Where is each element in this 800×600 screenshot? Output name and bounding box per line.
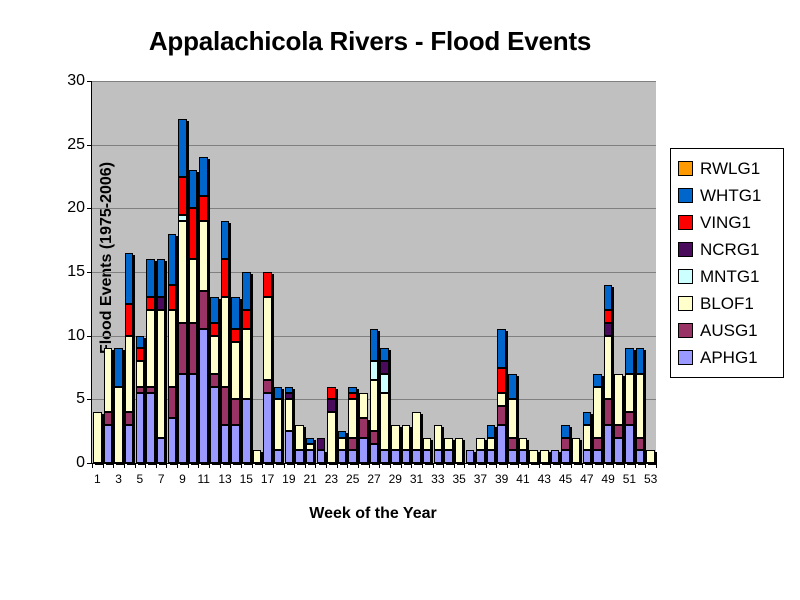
legend-item[interactable]: MNTG1 bbox=[678, 263, 778, 290]
x-axis-tick-mark bbox=[92, 463, 93, 468]
x-axis-tick-label: 15 bbox=[240, 472, 253, 486]
bar-segment-aphg1[interactable] bbox=[338, 450, 347, 463]
bar-segment-aphg1[interactable] bbox=[274, 450, 283, 463]
bar-segment-aphg1[interactable] bbox=[263, 393, 272, 463]
bar-segment-ausg1[interactable] bbox=[561, 438, 570, 451]
x-axis-tick-label: 3 bbox=[115, 472, 122, 486]
x-axis-tick-mark bbox=[475, 463, 476, 468]
bar-segment-whtg1[interactable] bbox=[348, 387, 357, 393]
bar-segment-aphg1[interactable] bbox=[231, 425, 240, 463]
plot-area: Flood Events (1975-2006) 051015202530135… bbox=[91, 81, 656, 464]
bar-segment-blof1[interactable] bbox=[168, 310, 177, 386]
bar-segment-aphg1[interactable] bbox=[604, 425, 613, 463]
x-axis-tick-mark bbox=[326, 463, 327, 468]
x-axis-tick-label: 27 bbox=[367, 472, 380, 486]
bar-segment-blof1[interactable] bbox=[402, 425, 411, 450]
x-axis-tick-label: 25 bbox=[346, 472, 359, 486]
bar-segment-blof1[interactable] bbox=[434, 425, 443, 450]
bar-column[interactable] bbox=[625, 348, 634, 463]
bar-column[interactable] bbox=[519, 438, 528, 463]
bar-segment-aphg1[interactable] bbox=[306, 450, 315, 463]
bar-segment-ncrg1[interactable] bbox=[380, 361, 389, 374]
x-axis-tick-mark bbox=[220, 463, 221, 468]
bar-segment-blof1[interactable] bbox=[146, 310, 155, 386]
bar-segment-whtg1[interactable] bbox=[168, 234, 177, 285]
bar-segment-whtg1[interactable] bbox=[274, 387, 283, 400]
x-axis-tick-label: 51 bbox=[623, 472, 636, 486]
bar-segment-aphg1[interactable] bbox=[125, 425, 134, 463]
x-axis-tick-label: 17 bbox=[261, 472, 274, 486]
bar-segment-whtg1[interactable] bbox=[146, 259, 155, 297]
bar-segment-ving1[interactable] bbox=[178, 177, 187, 215]
y-axis-tick-label: 30 bbox=[67, 72, 85, 90]
bar-column[interactable] bbox=[423, 438, 432, 463]
bar-column[interactable] bbox=[274, 387, 283, 463]
bar-segment-whtg1[interactable] bbox=[380, 348, 389, 361]
bar-segment-whtg1[interactable] bbox=[561, 425, 570, 438]
x-axis-tick-label: 31 bbox=[410, 472, 423, 486]
legend-item[interactable]: WHTG1 bbox=[678, 182, 778, 209]
bar-segment-aphg1[interactable] bbox=[221, 425, 230, 463]
bar-segment-blof1[interactable] bbox=[497, 393, 506, 406]
legend-item[interactable]: NCRG1 bbox=[678, 236, 778, 263]
bar-column[interactable] bbox=[412, 412, 421, 463]
bar-column[interactable] bbox=[444, 438, 453, 463]
x-axis-tick-mark bbox=[528, 463, 529, 468]
bar-segment-whtg1[interactable] bbox=[178, 119, 187, 176]
bar-segment-ausg1[interactable] bbox=[221, 387, 230, 425]
x-axis-tick-mark bbox=[422, 463, 423, 468]
bar-column[interactable] bbox=[317, 450, 326, 463]
bar-segment-whtg1[interactable] bbox=[199, 157, 208, 195]
legend-label: MNTG1 bbox=[700, 268, 760, 285]
bar-segment-ausg1[interactable] bbox=[370, 431, 379, 444]
bar-segment-whtg1[interactable] bbox=[338, 431, 347, 437]
bar-segment-blof1[interactable] bbox=[476, 438, 485, 451]
x-axis-tick-mark bbox=[284, 463, 285, 468]
x-axis-tick-label: 37 bbox=[474, 472, 487, 486]
bar-segment-blof1[interactable] bbox=[242, 329, 251, 399]
bar-segment-ving1[interactable] bbox=[231, 329, 240, 342]
bar-segment-ving1[interactable] bbox=[199, 196, 208, 221]
bar-segment-aphg1[interactable] bbox=[285, 431, 294, 463]
bar-column[interactable] bbox=[306, 438, 315, 463]
bar-segment-whtg1[interactable] bbox=[497, 329, 506, 367]
bar-segment-aphg1[interactable] bbox=[380, 450, 389, 463]
bar-column[interactable] bbox=[136, 336, 145, 463]
x-axis-tick-mark bbox=[582, 463, 583, 468]
bar-segment-whtg1[interactable] bbox=[625, 348, 634, 373]
x-axis-tick-mark bbox=[539, 463, 540, 468]
x-axis-tick-mark bbox=[113, 463, 114, 468]
legend-label: RWLG1 bbox=[700, 160, 760, 177]
bar-segment-whtg1[interactable] bbox=[583, 412, 592, 425]
bar-column[interactable] bbox=[253, 450, 262, 463]
bar-segment-aphg1[interactable] bbox=[189, 374, 198, 463]
bar-column[interactable] bbox=[210, 297, 219, 463]
bar-segment-whtg1[interactable] bbox=[221, 221, 230, 259]
bar-column[interactable] bbox=[146, 259, 155, 463]
x-axis-tick-label: 5 bbox=[137, 472, 144, 486]
legend-label: AUSG1 bbox=[700, 322, 758, 339]
bar-segment-mntg1[interactable] bbox=[178, 215, 187, 221]
bar-segment-blof1[interactable] bbox=[157, 310, 166, 437]
bar-segment-ausg1[interactable] bbox=[359, 418, 368, 437]
x-axis-tick-mark bbox=[188, 463, 189, 468]
bar-column[interactable] bbox=[455, 438, 464, 463]
bar-segment-blof1[interactable] bbox=[104, 348, 113, 412]
bar-segment-whtg1[interactable] bbox=[593, 374, 602, 387]
legend-item[interactable]: BLOF1 bbox=[678, 290, 778, 317]
bar-segment-aphg1[interactable] bbox=[434, 450, 443, 463]
x-axis-tick-mark bbox=[369, 463, 370, 468]
bar-segment-aphg1[interactable] bbox=[295, 450, 304, 463]
y-axis-tick-label: 10 bbox=[67, 327, 85, 345]
bar-segment-blof1[interactable] bbox=[380, 393, 389, 450]
bar-segment-blof1[interactable] bbox=[231, 342, 240, 399]
bar-segment-aphg1[interactable] bbox=[593, 450, 602, 463]
bar-column[interactable] bbox=[221, 221, 230, 463]
bar-segment-ausg1[interactable] bbox=[625, 412, 634, 425]
bar-column[interactable] bbox=[178, 119, 187, 463]
gridline bbox=[92, 81, 656, 82]
bar-segment-aphg1[interactable] bbox=[487, 450, 496, 463]
bar-segment-blof1[interactable] bbox=[348, 399, 357, 437]
bar-segment-blof1[interactable] bbox=[274, 399, 283, 450]
bar-segment-whtg1[interactable] bbox=[636, 348, 645, 373]
bar-segment-whtg1[interactable] bbox=[114, 348, 123, 386]
bar-segment-whtg1[interactable] bbox=[508, 374, 517, 399]
y-axis-tick-label: 15 bbox=[67, 263, 85, 281]
bar-segment-whtg1[interactable] bbox=[487, 425, 496, 438]
gridline bbox=[92, 145, 656, 146]
bar-segment-ncrg1[interactable] bbox=[327, 399, 336, 412]
x-axis-tick-mark bbox=[230, 463, 231, 468]
bar-segment-blof1[interactable] bbox=[593, 387, 602, 438]
bar-segment-aphg1[interactable] bbox=[466, 450, 475, 463]
legend-label: APHG1 bbox=[700, 349, 758, 366]
bar-segment-aphg1[interactable] bbox=[583, 450, 592, 463]
bar-segment-ving1[interactable] bbox=[221, 259, 230, 297]
bar-segment-blof1[interactable] bbox=[487, 438, 496, 451]
bar-segment-ausg1[interactable] bbox=[178, 323, 187, 374]
bar-segment-whtg1[interactable] bbox=[306, 438, 315, 444]
bar-segment-ving1[interactable] bbox=[136, 348, 145, 361]
bar-segment-ving1[interactable] bbox=[168, 285, 177, 310]
x-axis-tick-mark bbox=[464, 463, 465, 468]
bar-column[interactable] bbox=[551, 450, 560, 463]
bar-segment-aphg1[interactable] bbox=[359, 438, 368, 463]
bar-segment-aphg1[interactable] bbox=[370, 444, 379, 463]
bar-segment-blof1[interactable] bbox=[199, 221, 208, 291]
y-axis-tick-label: 5 bbox=[76, 390, 85, 408]
bar-segment-blof1[interactable] bbox=[221, 297, 230, 386]
bar-segment-ausg1[interactable] bbox=[614, 425, 623, 438]
bar-segment-whtg1[interactable] bbox=[125, 253, 134, 304]
x-axis-tick-mark bbox=[443, 463, 444, 468]
bar-segment-blof1[interactable] bbox=[253, 450, 262, 463]
bar-column[interactable] bbox=[327, 387, 336, 463]
bar-segment-aphg1[interactable] bbox=[444, 450, 453, 463]
bar-column[interactable] bbox=[104, 348, 113, 463]
bar-segment-aphg1[interactable] bbox=[497, 425, 506, 463]
x-axis-tick-label: 45 bbox=[559, 472, 572, 486]
bar-segment-blof1[interactable] bbox=[114, 387, 123, 463]
bar-segment-aphg1[interactable] bbox=[636, 450, 645, 463]
bar-segment-ving1[interactable] bbox=[327, 387, 336, 400]
bar-segment-ving1[interactable] bbox=[263, 272, 272, 297]
bar-segment-blof1[interactable] bbox=[263, 297, 272, 380]
bar-segment-ausg1[interactable] bbox=[210, 374, 219, 387]
bar-segment-whtg1[interactable] bbox=[604, 285, 613, 310]
bar-segment-mntg1[interactable] bbox=[380, 374, 389, 393]
bar-segment-aphg1[interactable] bbox=[104, 425, 113, 463]
x-axis-tick-mark bbox=[124, 463, 125, 468]
bar-segment-aphg1[interactable] bbox=[136, 393, 145, 463]
bar-segment-blof1[interactable] bbox=[455, 438, 464, 463]
bar-segment-ving1[interactable] bbox=[604, 310, 613, 323]
x-axis-tick-mark bbox=[294, 463, 295, 468]
bar-segment-whtg1[interactable] bbox=[370, 329, 379, 361]
bar-segment-ving1[interactable] bbox=[242, 310, 251, 329]
bar-column[interactable] bbox=[476, 438, 485, 463]
y-axis-tick-label: 20 bbox=[67, 199, 85, 217]
bar-segment-blof1[interactable] bbox=[540, 450, 549, 463]
bar-column[interactable] bbox=[487, 425, 496, 463]
bar-segment-aphg1[interactable] bbox=[508, 450, 517, 463]
bar-segment-ving1[interactable] bbox=[348, 393, 357, 399]
bar-column[interactable] bbox=[168, 234, 177, 463]
bar-segment-ausg1[interactable] bbox=[348, 438, 357, 451]
bar-column[interactable] bbox=[295, 425, 304, 463]
bar-column[interactable] bbox=[529, 450, 538, 463]
bar-segment-ncrg1[interactable] bbox=[317, 438, 326, 451]
bar-column[interactable] bbox=[157, 259, 166, 463]
x-axis-tick-mark bbox=[401, 463, 402, 468]
bar-segment-ausg1[interactable] bbox=[189, 323, 198, 374]
y-axis-tick-mark bbox=[87, 336, 92, 337]
x-axis-tick-label: 19 bbox=[282, 472, 295, 486]
bar-column[interactable] bbox=[391, 425, 400, 463]
bar-segment-aphg1[interactable] bbox=[412, 450, 421, 463]
bar-column[interactable] bbox=[561, 425, 570, 463]
bar-segment-mntg1[interactable] bbox=[370, 361, 379, 380]
bar-segment-aphg1[interactable] bbox=[199, 329, 208, 463]
bar-column[interactable] bbox=[434, 425, 443, 463]
bar-column[interactable] bbox=[593, 374, 602, 463]
bar-segment-aphg1[interactable] bbox=[348, 450, 357, 463]
bar-column[interactable] bbox=[199, 157, 208, 463]
bar-column[interactable] bbox=[231, 297, 240, 463]
bar-segment-blof1[interactable] bbox=[178, 221, 187, 323]
bar-segment-aphg1[interactable] bbox=[423, 450, 432, 463]
legend-item[interactable]: RWLG1 bbox=[678, 155, 778, 182]
bar-column[interactable] bbox=[370, 329, 379, 463]
bar-segment-aphg1[interactable] bbox=[519, 450, 528, 463]
bar-column[interactable] bbox=[572, 438, 581, 463]
x-axis-tick-mark bbox=[305, 463, 306, 468]
bar-column[interactable] bbox=[646, 450, 655, 463]
bar-segment-whtg1[interactable] bbox=[242, 272, 251, 310]
bar-column[interactable] bbox=[125, 253, 134, 463]
bar-column[interactable] bbox=[114, 348, 123, 463]
bar-segment-blof1[interactable] bbox=[93, 412, 102, 463]
bar-segment-aphg1[interactable] bbox=[614, 438, 623, 463]
bar-segment-blof1[interactable] bbox=[529, 450, 538, 463]
bar-segment-whtg1[interactable] bbox=[136, 336, 145, 349]
bar-segment-blof1[interactable] bbox=[519, 438, 528, 451]
bar-segment-ving1[interactable] bbox=[210, 323, 219, 336]
bar-segment-blof1[interactable] bbox=[136, 361, 145, 386]
bar-column[interactable] bbox=[466, 450, 475, 463]
bar-segment-blof1[interactable] bbox=[625, 374, 634, 412]
gridline bbox=[92, 208, 656, 209]
bar-segment-blof1[interactable] bbox=[646, 450, 655, 463]
bar-segment-ausg1[interactable] bbox=[136, 387, 145, 393]
bar-segment-ausg1[interactable] bbox=[146, 387, 155, 393]
bar-column[interactable] bbox=[380, 348, 389, 463]
bar-segment-ausg1[interactable] bbox=[263, 380, 272, 393]
y-axis-tick-mark bbox=[87, 399, 92, 400]
legend-swatch-icon bbox=[678, 350, 693, 365]
bar-segment-aphg1[interactable] bbox=[551, 450, 560, 463]
legend-swatch-icon bbox=[678, 215, 693, 230]
bar-segment-ncrg1[interactable] bbox=[285, 393, 294, 399]
x-axis-tick-mark bbox=[550, 463, 551, 468]
bar-segment-ving1[interactable] bbox=[497, 368, 506, 393]
bar-segment-ausg1[interactable] bbox=[199, 291, 208, 329]
bar-segment-blof1[interactable] bbox=[508, 399, 517, 437]
bar-column[interactable] bbox=[338, 431, 347, 463]
y-axis-tick-mark bbox=[87, 145, 92, 146]
bar-segment-ausg1[interactable] bbox=[604, 399, 613, 424]
bar-column[interactable] bbox=[93, 412, 102, 463]
bar-segment-aphg1[interactable] bbox=[210, 387, 219, 463]
x-axis-tick-label: 1 bbox=[94, 472, 101, 486]
x-axis-label: Week of the Year bbox=[91, 505, 655, 523]
y-axis-tick-label: 25 bbox=[67, 136, 85, 154]
chart-legend: RWLG1WHTG1VING1NCRG1MNTG1BLOF1AUSG1APHG1 bbox=[670, 148, 784, 378]
bar-segment-ncrg1[interactable] bbox=[157, 297, 166, 310]
legend-label: WHTG1 bbox=[700, 187, 761, 204]
x-axis-tick-label: 11 bbox=[198, 472, 210, 486]
bar-segment-ausg1[interactable] bbox=[125, 412, 134, 425]
bar-column[interactable] bbox=[402, 425, 411, 463]
bar-segment-blof1[interactable] bbox=[444, 438, 453, 451]
bar-segment-blof1[interactable] bbox=[636, 374, 645, 438]
bar-column[interactable] bbox=[614, 374, 623, 463]
x-axis-tick-mark bbox=[507, 463, 508, 468]
bar-segment-aphg1[interactable] bbox=[178, 374, 187, 463]
bar-segment-whtg1[interactable] bbox=[231, 297, 240, 329]
x-axis-tick-mark bbox=[613, 463, 614, 468]
x-axis-tick-mark bbox=[252, 463, 253, 468]
bar-segment-ncrg1[interactable] bbox=[604, 323, 613, 336]
bar-column[interactable] bbox=[636, 348, 645, 463]
bar-segment-ausg1[interactable] bbox=[508, 438, 517, 451]
bar-segment-aphg1[interactable] bbox=[391, 450, 400, 463]
legend-label: BLOF1 bbox=[700, 295, 754, 312]
bar-segment-blof1[interactable] bbox=[423, 438, 432, 451]
bar-segment-aphg1[interactable] bbox=[146, 393, 155, 463]
x-axis-tick-mark bbox=[273, 463, 274, 468]
bar-column[interactable] bbox=[497, 329, 506, 463]
bar-segment-blof1[interactable] bbox=[572, 438, 581, 463]
bar-segment-blof1[interactable] bbox=[306, 444, 315, 450]
bar-column[interactable] bbox=[540, 450, 549, 463]
bar-segment-whtg1[interactable] bbox=[157, 259, 166, 297]
bar-segment-ving1[interactable] bbox=[125, 304, 134, 336]
bar-column[interactable] bbox=[189, 170, 198, 463]
x-axis-tick-mark bbox=[347, 463, 348, 468]
bar-segment-blof1[interactable] bbox=[614, 374, 623, 425]
bar-segment-whtg1[interactable] bbox=[285, 387, 294, 393]
bar-segment-ving1[interactable] bbox=[146, 297, 155, 310]
bar-column[interactable] bbox=[359, 418, 368, 463]
bar-segment-aphg1[interactable] bbox=[317, 450, 326, 463]
bar-segment-blof1[interactable] bbox=[189, 259, 198, 323]
bar-segment-aphg1[interactable] bbox=[168, 418, 177, 463]
bar-segment-blof1[interactable] bbox=[583, 425, 592, 450]
x-axis-tick-mark bbox=[358, 463, 359, 468]
bar-segment-aphg1[interactable] bbox=[625, 425, 634, 463]
bar-segment-ausg1[interactable] bbox=[497, 406, 506, 425]
bar-segment-ausg1[interactable] bbox=[593, 438, 602, 451]
bar-segment-ausg1[interactable] bbox=[104, 412, 113, 425]
x-axis-tick-mark bbox=[337, 463, 338, 468]
bar-column[interactable] bbox=[285, 387, 294, 463]
bar-segment-blof1[interactable] bbox=[338, 438, 347, 451]
chart-container: Appalachicola Rivers - Flood Events Floo… bbox=[0, 0, 800, 600]
bar-column[interactable] bbox=[242, 272, 251, 463]
bar-segment-blof1[interactable] bbox=[370, 380, 379, 431]
legend-item[interactable]: AUSG1 bbox=[678, 317, 778, 344]
x-axis-tick-label: 53 bbox=[644, 472, 657, 486]
bar-segment-aphg1[interactable] bbox=[561, 450, 570, 463]
bar-segment-whtg1[interactable] bbox=[189, 170, 198, 208]
legend-item[interactable]: VING1 bbox=[678, 209, 778, 236]
x-axis-tick-label: 35 bbox=[452, 472, 465, 486]
bar-segment-blof1[interactable] bbox=[359, 393, 368, 418]
bar-segment-ausg1[interactable] bbox=[231, 399, 240, 424]
bar-segment-blof1[interactable] bbox=[327, 412, 336, 463]
x-axis-tick-mark bbox=[592, 463, 593, 468]
bar-segment-whtg1[interactable] bbox=[210, 297, 219, 322]
bar-segment-ving1[interactable] bbox=[189, 208, 198, 259]
bar-segment-blof1[interactable] bbox=[285, 399, 294, 431]
bar-column[interactable] bbox=[604, 285, 613, 463]
legend-item[interactable]: APHG1 bbox=[678, 344, 778, 371]
x-axis-tick-mark bbox=[454, 463, 455, 468]
bar-segment-aphg1[interactable] bbox=[242, 399, 251, 463]
bar-segment-blof1[interactable] bbox=[295, 425, 304, 450]
bar-segment-aphg1[interactable] bbox=[157, 438, 166, 463]
bar-column[interactable] bbox=[263, 272, 272, 463]
bar-segment-blof1[interactable] bbox=[412, 412, 421, 450]
bar-segment-blof1[interactable] bbox=[125, 336, 134, 412]
bar-column[interactable] bbox=[348, 387, 357, 463]
bar-segment-aphg1[interactable] bbox=[476, 450, 485, 463]
bar-segment-ausg1[interactable] bbox=[636, 438, 645, 451]
bar-segment-ausg1[interactable] bbox=[168, 387, 177, 419]
x-axis-tick-mark bbox=[656, 463, 657, 468]
bar-segment-blof1[interactable] bbox=[604, 336, 613, 400]
bar-segment-blof1[interactable] bbox=[210, 336, 219, 374]
bar-segment-blof1[interactable] bbox=[391, 425, 400, 450]
bar-column[interactable] bbox=[508, 374, 517, 463]
bar-column[interactable] bbox=[583, 412, 592, 463]
bar-segment-aphg1[interactable] bbox=[402, 450, 411, 463]
